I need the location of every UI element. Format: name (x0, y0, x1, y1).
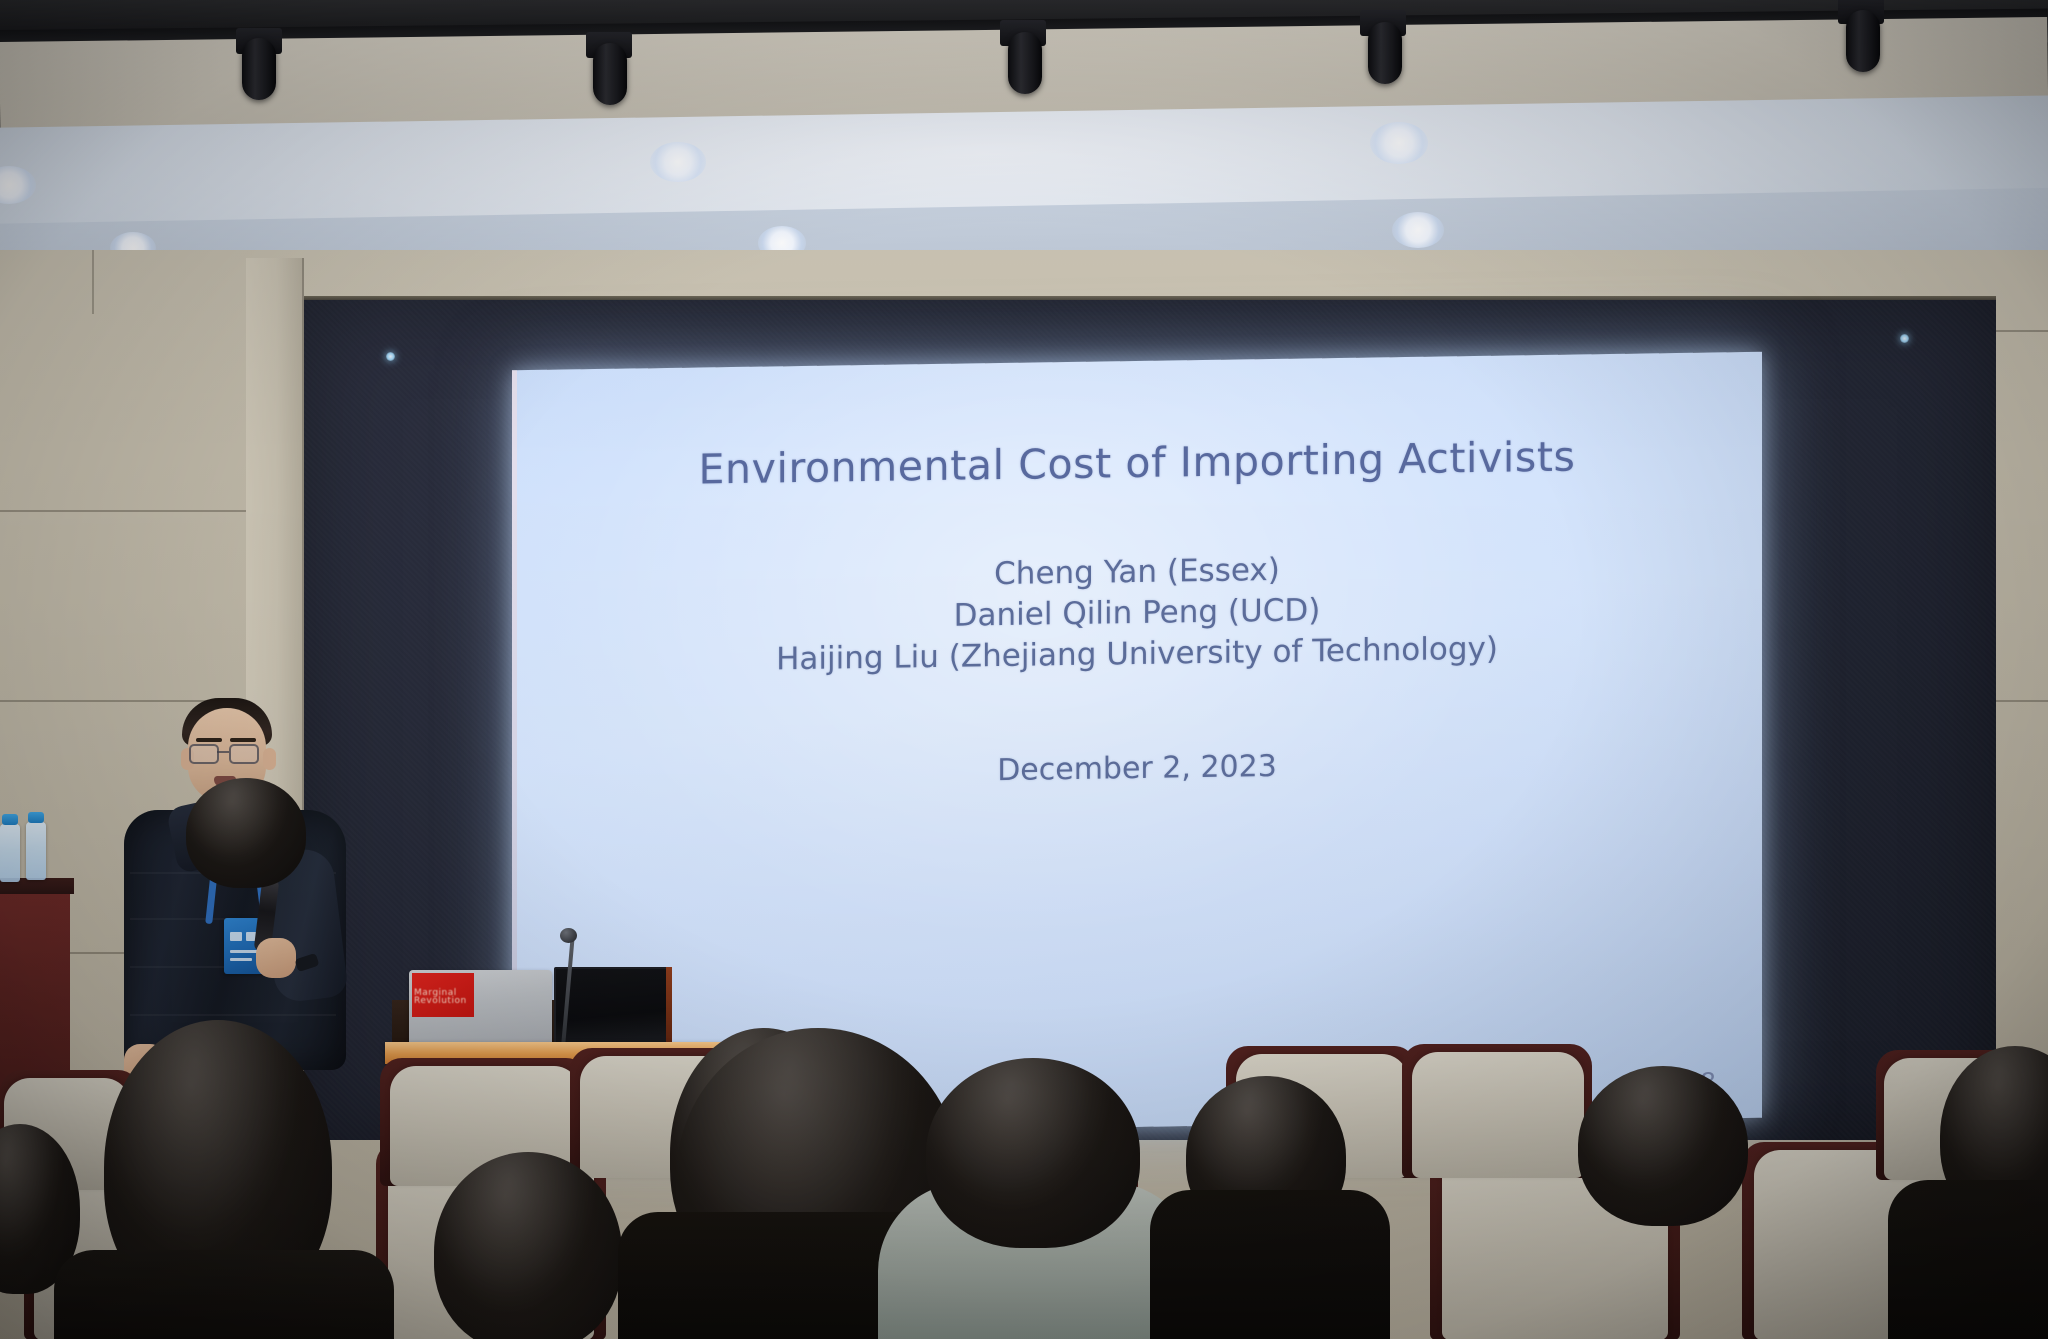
lecture-hall-photo: Environmental Cost of Importing Activist… (0, 0, 2048, 1339)
audience-shoulders-2 (54, 1250, 394, 1339)
badge-line-4 (230, 958, 252, 961)
slide-date: December 2, 2023 (512, 742, 1762, 796)
track-spotlight-4 (1368, 22, 1402, 84)
slide-title: Environmental Cost of Importing Activist… (512, 430, 1762, 497)
track-spotlight-1 (242, 38, 276, 100)
badge-line-1 (230, 932, 242, 941)
head-highlight (1578, 1066, 1748, 1226)
ceiling-downlight-3 (1370, 122, 1428, 164)
ceiling-downlight-2 (650, 142, 706, 182)
audience-shoulders-8 (1150, 1190, 1390, 1339)
water-bottle-2 (26, 822, 46, 880)
presenter-ear-right (263, 748, 276, 770)
jacket-quilt-line-4 (130, 1014, 336, 1016)
seat-mid-5 (1412, 1052, 1584, 1178)
projection-screen: Environmental Cost of Importing Activist… (512, 352, 1762, 1137)
ceiling-downlight-6 (1392, 212, 1444, 248)
head-highlight (926, 1058, 1140, 1248)
wall-seam-5 (1996, 700, 2048, 702)
audience-shoulders-10 (1888, 1180, 2048, 1339)
backdrop-led-left (386, 352, 395, 361)
audience-head-3 (186, 778, 306, 888)
eyeglasses-bridge (217, 751, 229, 753)
audience-head-4 (434, 1152, 622, 1339)
head-highlight (186, 778, 306, 888)
presenter-brow-right (230, 738, 256, 742)
track-spotlight-5 (1846, 10, 1880, 72)
gooseneck-microphone-head (560, 928, 577, 943)
head-highlight (434, 1152, 622, 1339)
presenter-brow-left (196, 738, 222, 742)
wall-seam-4 (1996, 330, 2048, 332)
wall-seam-1 (0, 510, 250, 512)
wall-vertical-seam (92, 250, 94, 314)
eyeglasses-lens-right (229, 744, 259, 764)
monitor-side-edge (666, 967, 672, 1047)
backdrop-led-right (1900, 334, 1909, 343)
audience-head-9 (1578, 1066, 1748, 1226)
water-bottle-cap-1 (2, 814, 18, 825)
water-bottle-cap-2 (28, 812, 44, 823)
presenter-hand-right (256, 938, 296, 978)
audience-head-7 (926, 1058, 1140, 1248)
laptop-sticker-text: Marginal Revolution (414, 989, 472, 1005)
water-bottle-1 (0, 824, 20, 882)
presentation-slide: Environmental Cost of Importing Activist… (512, 352, 1762, 1137)
slide-authors: Cheng Yan (Essex) Daniel Qilin Peng (UCD… (512, 543, 1762, 685)
eyeglasses-lens-left (189, 744, 219, 764)
track-spotlight-2 (593, 43, 627, 105)
external-monitor[interactable] (554, 967, 671, 1047)
track-spotlight-3 (1008, 32, 1042, 94)
